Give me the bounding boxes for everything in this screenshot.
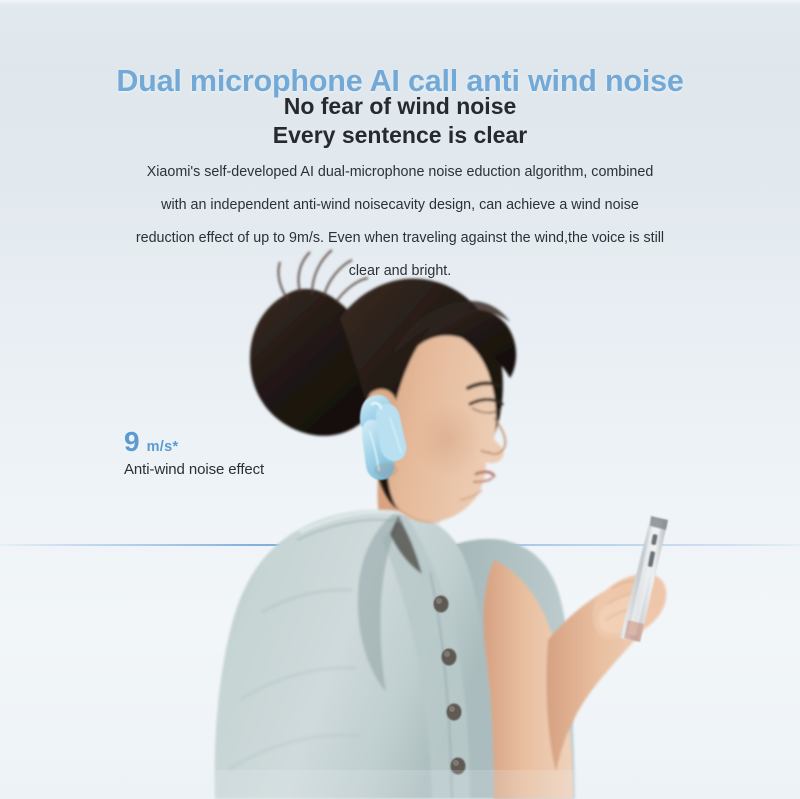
stat-value: 9 (124, 428, 140, 456)
body-paragraph: Xiaomi's self-developed AI dual-micropho… (100, 156, 700, 288)
stat-callout: 9 m/s* Anti-wind noise effect (124, 428, 264, 477)
body-line-4: clear and bright. (100, 255, 700, 288)
body-line-1: Xiaomi's self-developed AI dual-micropho… (100, 156, 700, 189)
body-line-3: reduction effect of up to 9m/s. Even whe… (100, 222, 700, 255)
phone (620, 516, 668, 642)
audio-waveform-graphic (0, 470, 800, 630)
stat-value-row: 9 m/s* (124, 428, 264, 456)
top-edge-highlight (0, 0, 800, 5)
subheading: No fear of wind noise Every sentence is … (0, 92, 800, 150)
subheading-line-1: No fear of wind noise (0, 92, 800, 121)
body-line-2: with an independent anti-wind noisecavit… (100, 189, 700, 222)
product-feature-banner: Dual microphone AI call anti wind noise … (0, 0, 800, 799)
stat-caption: Anti-wind noise effect (124, 462, 264, 477)
stat-unit: m/s* (147, 440, 179, 455)
subheading-line-2: Every sentence is clear (0, 121, 800, 150)
earbud (360, 395, 406, 480)
vest-buttons (434, 596, 466, 775)
